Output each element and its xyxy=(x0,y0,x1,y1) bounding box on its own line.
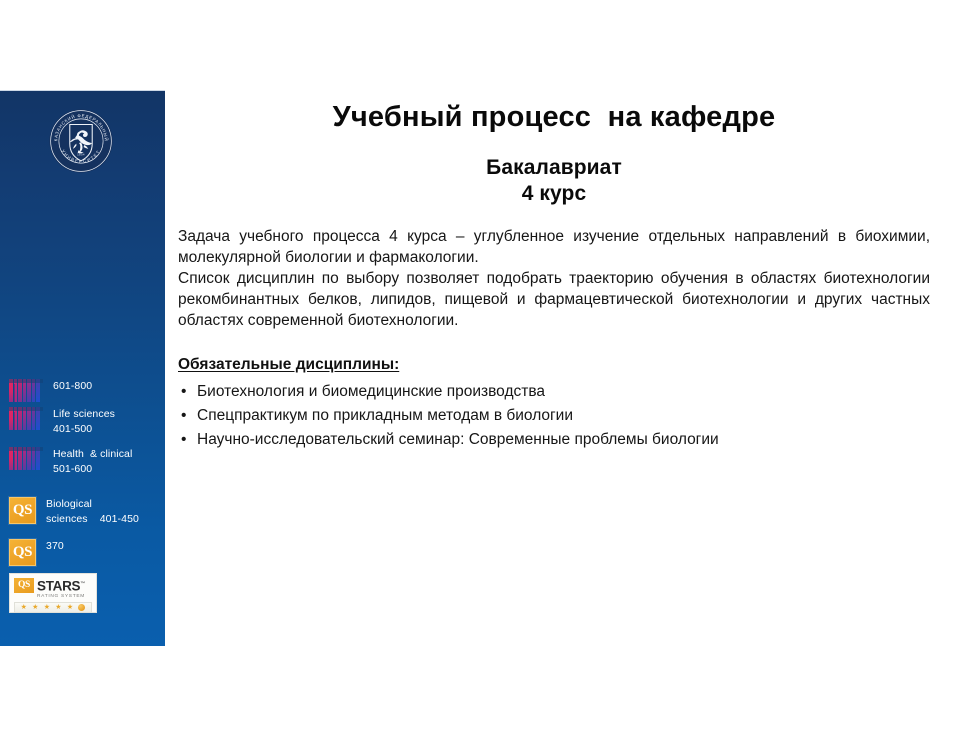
ranking-value: 370 xyxy=(46,539,64,554)
paragraph-2: Список дисциплин по выбору позволяет под… xyxy=(178,268,930,331)
the-logo-icon xyxy=(9,447,43,470)
list-item-label: Спецпрактикум по прикладным методам в би… xyxy=(197,407,573,424)
star-icon: ★ xyxy=(21,604,27,611)
qs-logo-icon: QS xyxy=(9,497,36,524)
qs-logo-text: QS xyxy=(10,503,35,518)
qs-stars-mark: QS xyxy=(14,578,34,593)
bullet-icon: • xyxy=(181,404,186,428)
trademark-icon: ™ xyxy=(80,581,85,587)
subtitle-block: Бакалавриат 4 курс xyxy=(178,155,930,207)
list-item-label: Биотехнология и биомедицинские производс… xyxy=(197,383,545,400)
ranking-label: Health & clinical xyxy=(53,447,132,462)
qs-logo-icon: QS xyxy=(9,539,36,566)
university-emblem-icon: КАЗАНСКИЙ ФЕДЕРАЛЬНЫЙ УНИВЕРСИТЕТ xyxy=(48,108,114,174)
mandatory-courses-block: Обязательные дисциплины: • Биотехнология… xyxy=(178,354,930,452)
slide-canvas: КАЗАНСКИЙ ФЕДЕРАЛЬНЫЙ УНИВЕРСИТЕТ xyxy=(0,0,980,735)
subtitle-year: 4 курс xyxy=(178,181,930,207)
svg-text:1804: 1804 xyxy=(77,153,85,157)
qs-stars-word-text: STARS xyxy=(37,579,80,594)
ranking-row-the-life-sciences: Life sciences 401-500 xyxy=(9,407,115,437)
ranking-row-the-health-clinical: Health & clinical 501-600 xyxy=(9,447,132,477)
star-icon: ★ xyxy=(32,604,38,611)
rating-dot-icon xyxy=(78,604,85,611)
qs-stars-badge: QS STARS™ RATING SYSTEM ★ ★ ★ ★ ★ xyxy=(9,573,97,613)
list-item-label: Научно-исследовательский семинар: Соврем… xyxy=(197,431,719,448)
ranking-row-the-overall: 601-800 xyxy=(9,379,92,402)
slide-content: Учебный процесс на кафедре Бакалавриат 4… xyxy=(178,100,930,452)
qs-stars-subtitle: RATING SYSTEM xyxy=(37,593,92,600)
ranking-value: 401-500 xyxy=(53,422,115,437)
star-icon: ★ xyxy=(55,604,61,611)
subtitle-degree: Бакалавриат xyxy=(178,155,930,181)
star-icon: ★ xyxy=(44,604,50,611)
sidebar-panel: КАЗАНСКИЙ ФЕДЕРАЛЬНЫЙ УНИВЕРСИТЕТ xyxy=(0,90,165,646)
page-title: Учебный процесс на кафедре xyxy=(178,100,930,134)
bullet-icon: • xyxy=(181,428,186,452)
paragraph-1: Задача учебного процесса 4 курса – углуб… xyxy=(178,226,930,268)
ranking-value: sciences 401-450 xyxy=(46,512,139,527)
ranking-label: Life sciences xyxy=(53,407,115,422)
the-logo-icon xyxy=(9,407,43,430)
qs-logo-text: QS xyxy=(10,545,35,560)
ranking-label: Biological xyxy=(46,497,139,512)
bullet-icon: • xyxy=(181,380,186,404)
list-item: • Спецпрактикум по прикладным методам в … xyxy=(178,404,930,428)
list-item: • Биотехнология и биомедицинские произво… xyxy=(178,380,930,404)
qs-stars-word: STARS™ xyxy=(37,577,85,594)
star-icon: ★ xyxy=(67,604,73,611)
mandatory-courses-list: • Биотехнология и биомедицинские произво… xyxy=(178,380,930,452)
ranking-row-qs-biological-sciences: QS Biological sciences 401-450 xyxy=(9,497,139,527)
ranking-row-qs-overall: QS 370 xyxy=(9,539,64,566)
ranking-label: 601-800 xyxy=(53,379,92,394)
mandatory-courses-heading: Обязательные дисциплины: xyxy=(178,354,930,375)
the-logo-icon xyxy=(9,379,43,402)
ranking-value: 501-600 xyxy=(53,462,132,477)
list-item: • Научно-исследовательский семинар: Совр… xyxy=(178,428,930,452)
body-text: Задача учебного процесса 4 курса – углуб… xyxy=(178,226,930,331)
qs-stars-rating-strip: ★ ★ ★ ★ ★ xyxy=(14,602,92,613)
